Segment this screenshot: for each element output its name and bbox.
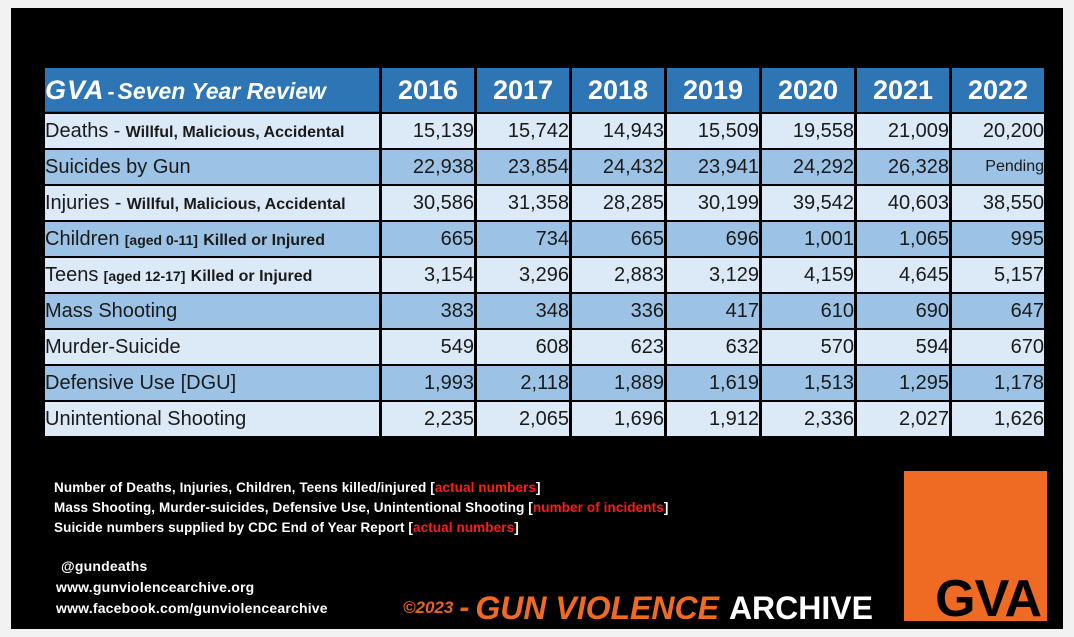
table-row: Defensive Use [DGU]1,9932,1181,8891,6191…: [45, 366, 1044, 400]
column-header-2016: 2016: [382, 68, 474, 112]
footnote-line: Suicide numbers supplied by CDC End of Y…: [54, 518, 754, 538]
footnote-tail: ]: [514, 520, 519, 535]
cell-value: 348: [477, 294, 569, 328]
table-title-dash: -: [105, 81, 118, 104]
cell-value: 20,200: [952, 114, 1044, 148]
twitter-handle-text: @gundeaths: [56, 558, 147, 574]
cell-value: 336: [572, 294, 664, 328]
cell-value: 632: [667, 330, 759, 364]
cell-value: 28,285: [572, 186, 664, 220]
cell-value: 734: [477, 222, 569, 256]
table-body: Deaths - Willful, Malicious, Accidental1…: [45, 114, 1044, 436]
cell-value: 24,432: [572, 150, 664, 184]
row-label-agerange: [aged 12-17]: [104, 268, 186, 284]
footnote-tail: ]: [536, 480, 541, 495]
cell-value: 5,157: [952, 258, 1044, 292]
cell-value: 40,603: [857, 186, 949, 220]
column-header-2019: 2019: [667, 68, 759, 112]
cell-value: 2,027: [857, 402, 949, 436]
cell-value: 594: [857, 330, 949, 364]
cell-value: 21,009: [857, 114, 949, 148]
row-label-main: Mass Shooting: [45, 300, 177, 322]
cell-value: 2,235: [382, 402, 474, 436]
cell-value: 26,328: [857, 150, 949, 184]
cell-value: 1,696: [572, 402, 664, 436]
cell-value: 1,178: [952, 366, 1044, 400]
row-label-tail: Killed or Injured: [203, 232, 325, 249]
table-row: Teens [aged 12-17] Killed or Injured3,15…: [45, 258, 1044, 292]
cell-value: 23,941: [667, 150, 759, 184]
row-label-main: Murder-Suicide: [45, 336, 181, 358]
website-link[interactable]: www.gunviolencearchive.org: [56, 577, 328, 598]
row-label-main: Teens: [45, 264, 98, 286]
cell-value: 30,199: [667, 186, 759, 220]
branding-gun-violence: GUN VIOLENCE: [475, 590, 719, 627]
cell-value: 696: [667, 222, 759, 256]
cell-value: Pending: [952, 150, 1044, 184]
table-title-subtitle: Seven Year Review: [118, 78, 326, 104]
row-label-tail: Killed or Injured: [191, 268, 313, 285]
table-row: Murder-Suicide549608623632570594670: [45, 330, 1044, 364]
cell-value: 570: [762, 330, 854, 364]
row-label: Unintentional Shooting: [45, 402, 379, 436]
cell-value: 1,619: [667, 366, 759, 400]
column-header-2018: 2018: [572, 68, 664, 112]
cell-value: 1,912: [667, 402, 759, 436]
cell-value: 647: [952, 294, 1044, 328]
row-label-dash: -: [115, 192, 122, 214]
gva-logo-text: GVA: [935, 573, 1041, 625]
cell-value: 1,626: [952, 402, 1044, 436]
cell-value: 4,159: [762, 258, 854, 292]
table-title-brand: GVA: [45, 75, 105, 105]
cell-value: 24,292: [762, 150, 854, 184]
table-row: Children [aged 0-11] Killed or Injured66…: [45, 222, 1044, 256]
row-label: Deaths - Willful, Malicious, Accidental: [45, 114, 379, 148]
footnote-highlight: actual numbers: [435, 480, 536, 495]
seven-year-review-table: GVA-Seven Year Review 201620172018201920…: [42, 66, 1047, 438]
cell-value: 1,065: [857, 222, 949, 256]
row-label-detail: Willful, Malicious, Accidental: [126, 124, 345, 141]
table-row: Suicides by Gun22,93823,85424,43223,9412…: [45, 150, 1044, 184]
copyright-text: ©2023: [403, 598, 455, 618]
cell-value: 3,296: [477, 258, 569, 292]
cell-value: 2,065: [477, 402, 569, 436]
cell-value: 2,883: [572, 258, 664, 292]
infographic-board: GVA-Seven Year Review 201620172018201920…: [11, 8, 1063, 629]
row-label-main: Deaths: [45, 120, 108, 142]
table-row: Mass Shooting383348336417610690647: [45, 294, 1044, 328]
row-label: Children [aged 0-11] Killed or Injured: [45, 222, 379, 256]
cell-value: 38,550: [952, 186, 1044, 220]
row-label-main: Unintentional Shooting: [45, 408, 246, 430]
column-header-2021: 2021: [857, 68, 949, 112]
cell-value: 14,943: [572, 114, 664, 148]
cell-value: 665: [382, 222, 474, 256]
branding-archive: ARCHIVE: [719, 590, 873, 627]
cell-value: 15,509: [667, 114, 759, 148]
footnote-line: Mass Shooting, Murder-suicides, Defensiv…: [54, 498, 754, 518]
cell-value: 39,542: [762, 186, 854, 220]
cell-value: 4,645: [857, 258, 949, 292]
row-label: Murder-Suicide: [45, 330, 379, 364]
footnotes: Number of Deaths, Injuries, Children, Te…: [54, 478, 754, 538]
cell-value: 31,358: [477, 186, 569, 220]
cell-value: 383: [382, 294, 474, 328]
row-label: Mass Shooting: [45, 294, 379, 328]
facebook-link[interactable]: www.facebook.com/gunviolencearchive: [56, 598, 328, 619]
cell-value: 15,139: [382, 114, 474, 148]
row-label-main: Injuries: [45, 192, 109, 214]
cell-value: 995: [952, 222, 1044, 256]
footnote-tail: ]: [664, 500, 669, 515]
cell-value: 22,938: [382, 150, 474, 184]
cell-value: 417: [667, 294, 759, 328]
footnote-highlight: actual numbers: [413, 520, 514, 535]
gva-logo: GVA: [904, 471, 1047, 621]
cell-value: 1,889: [572, 366, 664, 400]
row-label-detail: Willful, Malicious, Accidental: [127, 196, 346, 213]
table-header: GVA-Seven Year Review 201620172018201920…: [45, 68, 1044, 112]
screenshot-canvas: GVA-Seven Year Review 201620172018201920…: [0, 0, 1074, 637]
cell-value: 665: [572, 222, 664, 256]
row-label-dash: -: [114, 120, 121, 142]
cell-value: 670: [952, 330, 1044, 364]
column-header-2017: 2017: [477, 68, 569, 112]
branding-dash: -: [455, 591, 475, 625]
cell-value: 1,001: [762, 222, 854, 256]
row-label: Teens [aged 12-17] Killed or Injured: [45, 258, 379, 292]
cell-value: 15,742: [477, 114, 569, 148]
column-header-2020: 2020: [762, 68, 854, 112]
table-row: Deaths - Willful, Malicious, Accidental1…: [45, 114, 1044, 148]
footnote-text: Suicide numbers supplied by CDC End of Y…: [54, 520, 413, 535]
cell-value: 610: [762, 294, 854, 328]
table-row: Injuries - Willful, Malicious, Accidenta…: [45, 186, 1044, 220]
cell-value: 1,513: [762, 366, 854, 400]
row-label-agerange: [aged 0-11]: [125, 232, 198, 248]
cell-value: 2,336: [762, 402, 854, 436]
table-row: Unintentional Shooting2,2352,0651,6961,9…: [45, 402, 1044, 436]
table-title-cell: GVA-Seven Year Review: [45, 68, 379, 112]
cell-value: 549: [382, 330, 474, 364]
cell-value: 608: [477, 330, 569, 364]
footnote-line: Number of Deaths, Injuries, Children, Te…: [54, 478, 754, 498]
footnote-highlight: number of incidents: [533, 500, 664, 515]
table-header-row: GVA-Seven Year Review 201620172018201920…: [45, 68, 1044, 112]
cell-value: 1,295: [857, 366, 949, 400]
row-label-main: Children: [45, 228, 119, 250]
row-label-main: Suicides by Gun: [45, 156, 191, 178]
cell-value: 3,129: [667, 258, 759, 292]
branding-line: ©2023 - GUN VIOLENCE ARCHIVE: [403, 588, 873, 628]
cell-value: 690: [857, 294, 949, 328]
twitter-handle[interactable]: @gundeaths: [56, 556, 328, 577]
cell-value: 3,154: [382, 258, 474, 292]
row-label: Injuries - Willful, Malicious, Accidenta…: [45, 186, 379, 220]
column-header-2022: 2022: [952, 68, 1044, 112]
cell-value: 1,993: [382, 366, 474, 400]
statistics-table-container: GVA-Seven Year Review 201620172018201920…: [42, 66, 1043, 438]
footnote-text: Number of Deaths, Injuries, Children, Te…: [54, 480, 435, 495]
footnote-text: Mass Shooting, Murder-suicides, Defensiv…: [54, 500, 533, 515]
row-label: Defensive Use [DGU]: [45, 366, 379, 400]
row-label-main: Defensive Use [DGU]: [45, 372, 236, 394]
cell-value: 2,118: [477, 366, 569, 400]
social-links: @gundeaths www.gunviolencearchive.org ww…: [56, 556, 328, 619]
row-label: Suicides by Gun: [45, 150, 379, 184]
cell-value: 30,586: [382, 186, 474, 220]
cell-value: 23,854: [477, 150, 569, 184]
cell-value: 623: [572, 330, 664, 364]
cell-value: 19,558: [762, 114, 854, 148]
